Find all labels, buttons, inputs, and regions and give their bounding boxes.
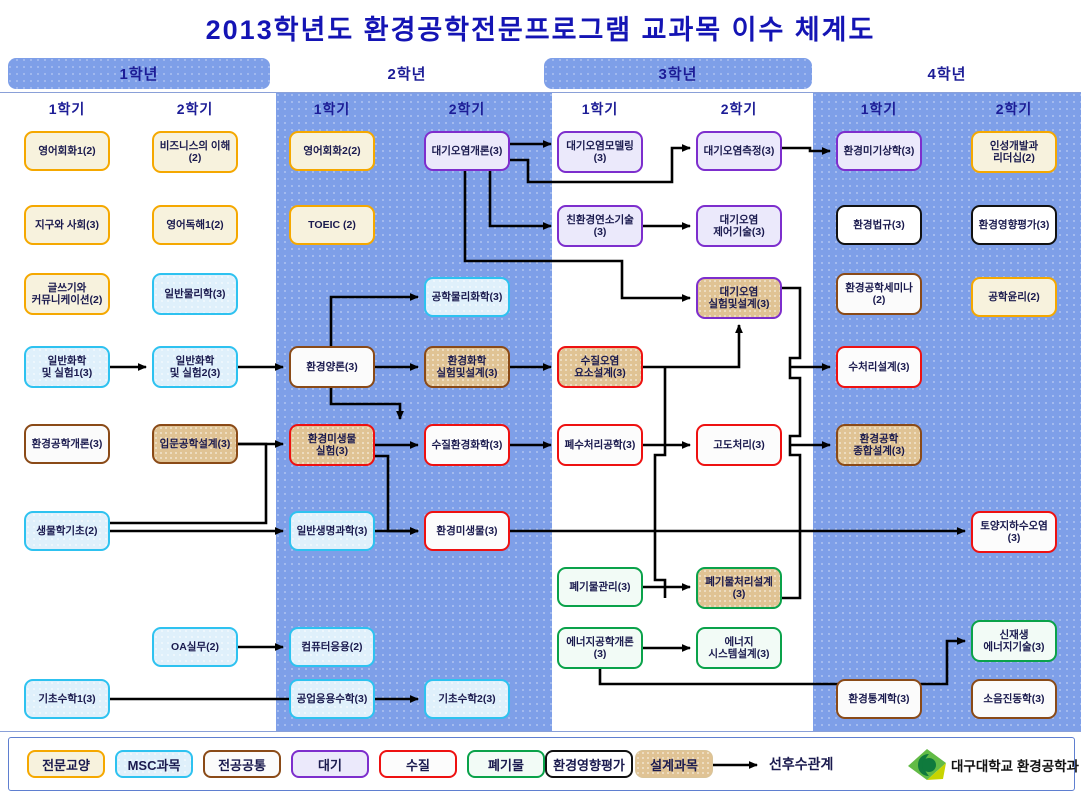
legend-item: 환경영향평가 bbox=[545, 750, 633, 778]
semester-text: 1학기 bbox=[582, 101, 619, 117]
legend: 선후수관계 대구대학교 환경공학과 전문교양MSC과목전공공통대기수질폐기물환경… bbox=[8, 737, 1075, 791]
year-header-4: 4학년 bbox=[818, 58, 1076, 89]
semester-label-3-2: 2학기 bbox=[696, 99, 782, 121]
course-box[interactable]: 일반물리학(3) bbox=[152, 273, 238, 315]
course-box[interactable]: 환경통계학(3) bbox=[836, 679, 922, 719]
semester-text: 1학기 bbox=[49, 101, 86, 117]
legend-item: 전문교양 bbox=[27, 750, 105, 778]
semester-label-3-1: 1학기 bbox=[557, 99, 643, 121]
legend-item: 대기 bbox=[291, 750, 369, 778]
semester-text: 2학기 bbox=[996, 101, 1033, 117]
semester-label-4-2: 2학기 bbox=[971, 99, 1057, 121]
course-box[interactable]: 환경양론(3) bbox=[289, 346, 375, 388]
course-box[interactable]: 공학물리화학(3) bbox=[424, 277, 510, 317]
course-box[interactable]: 수질환경화학(3) bbox=[424, 424, 510, 466]
university-logo-text: 대구대학교 환경공학과 bbox=[951, 755, 1079, 775]
header-divider-top bbox=[0, 92, 1081, 93]
university-logo-icon bbox=[907, 748, 947, 782]
year-header-label: 2학년 bbox=[388, 63, 427, 84]
course-box[interactable]: 환경공학개론(3) bbox=[24, 424, 110, 464]
course-box[interactable]: 대기오염 제어기술(3) bbox=[696, 205, 782, 247]
year-header-2: 2학년 bbox=[276, 58, 538, 89]
semester-label-2-2: 2학기 bbox=[424, 99, 510, 121]
course-box[interactable]: OA실무(2) bbox=[152, 627, 238, 667]
course-box[interactable]: 환경공학세미나 (2) bbox=[836, 273, 922, 315]
legend-item: 폐기물 bbox=[467, 750, 545, 778]
course-box[interactable]: 토양지하수오염 (3) bbox=[971, 511, 1057, 553]
course-box[interactable]: 에너지공학개론 (3) bbox=[557, 627, 643, 669]
course-box[interactable]: 환경법규(3) bbox=[836, 205, 922, 245]
course-box[interactable]: 영어회화1(2) bbox=[24, 131, 110, 171]
diagram-canvas: 2013학년도 환경공학전문프로그램 교과목 이수 체계도 1학년 2학년 3학… bbox=[0, 0, 1081, 794]
semester-text: 1학기 bbox=[314, 101, 351, 117]
legend-item: 수질 bbox=[379, 750, 457, 778]
course-box[interactable]: 수처리설계(3) bbox=[836, 346, 922, 388]
course-box[interactable]: 지구와 사회(3) bbox=[24, 205, 110, 245]
course-box[interactable]: 환경미기상학(3) bbox=[836, 131, 922, 171]
semester-label-2-1: 1학기 bbox=[289, 99, 375, 121]
legend-item: MSC과목 bbox=[115, 750, 193, 778]
semester-text: 2학기 bbox=[721, 101, 758, 117]
course-box[interactable]: 환경공학 종합설계(3) bbox=[836, 424, 922, 466]
course-box[interactable]: 공업응용수학(3) bbox=[289, 679, 375, 719]
course-box[interactable]: 대기오염모델링 (3) bbox=[557, 131, 643, 173]
course-box[interactable]: 소음진동학(3) bbox=[971, 679, 1057, 719]
course-box[interactable]: 환경미생물 실험(3) bbox=[289, 424, 375, 466]
course-box[interactable]: 수질오염 요소설계(3) bbox=[557, 346, 643, 388]
course-box[interactable]: 글쓰기와 커뮤니케이션(2) bbox=[24, 273, 110, 315]
course-box[interactable]: 환경화학 실험및설계(3) bbox=[424, 346, 510, 388]
year-header-1: 1학년 bbox=[8, 58, 270, 89]
course-box[interactable]: 고도처리(3) bbox=[696, 424, 782, 466]
semester-label-1-1: 1학기 bbox=[24, 99, 110, 121]
course-box[interactable]: 폐기물처리설계 (3) bbox=[696, 567, 782, 609]
year-header-label: 4학년 bbox=[928, 63, 967, 84]
course-box[interactable]: 비즈니스의 이해 (2) bbox=[152, 131, 238, 173]
course-box[interactable]: 폐수처리공학(3) bbox=[557, 424, 643, 466]
course-box[interactable]: 인성개발과 리더십(2) bbox=[971, 131, 1057, 173]
page-title: 2013학년도 환경공학전문프로그램 교과목 이수 체계도 bbox=[0, 8, 1081, 47]
course-box[interactable]: TOEIC (2) bbox=[289, 205, 375, 245]
legend-item: 전공공통 bbox=[203, 750, 281, 778]
course-box[interactable]: 환경미생물(3) bbox=[424, 511, 510, 551]
semester-label-1-2: 2학기 bbox=[152, 99, 238, 121]
course-box[interactable]: 대기오염측정(3) bbox=[696, 131, 782, 171]
relation-label: 선후수관계 bbox=[769, 754, 833, 774]
course-box[interactable]: 공학윤리(2) bbox=[971, 277, 1057, 317]
course-box[interactable]: 친환경연소기술 (3) bbox=[557, 205, 643, 247]
course-box[interactable]: 대기오염개론(3) bbox=[424, 131, 510, 171]
semester-text: 1학기 bbox=[861, 101, 898, 117]
course-box[interactable]: 일반생명과학(3) bbox=[289, 511, 375, 551]
course-box[interactable]: 대기오염 실험및설계(3) bbox=[696, 277, 782, 319]
semester-label-4-1: 1학기 bbox=[836, 99, 922, 121]
course-box[interactable]: 환경영향평가(3) bbox=[971, 205, 1057, 245]
semester-text: 2학기 bbox=[449, 101, 486, 117]
course-box[interactable]: 폐기물관리(3) bbox=[557, 567, 643, 607]
semester-text: 2학기 bbox=[177, 101, 214, 117]
course-box[interactable]: 기초수학2(3) bbox=[424, 679, 510, 719]
course-box[interactable]: 영어독해1(2) bbox=[152, 205, 238, 245]
course-box[interactable]: 생물학기초(2) bbox=[24, 511, 110, 551]
year-header-3: 3학년 bbox=[544, 58, 812, 89]
course-box[interactable]: 일반화학 및 실험2(3) bbox=[152, 346, 238, 388]
course-box[interactable]: 컴퓨터응용(2) bbox=[289, 627, 375, 667]
year-header-label: 3학년 bbox=[659, 63, 698, 84]
year-header-label: 1학년 bbox=[120, 63, 159, 84]
header-divider-bottom bbox=[0, 731, 1081, 732]
course-box[interactable]: 에너지 시스템설계(3) bbox=[696, 627, 782, 669]
course-box[interactable]: 영어회화2(2) bbox=[289, 131, 375, 171]
course-box[interactable]: 기초수학1(3) bbox=[24, 679, 110, 719]
legend-item: 설계과목 bbox=[635, 750, 713, 778]
course-box[interactable]: 입문공학설계(3) bbox=[152, 424, 238, 464]
course-box[interactable]: 신재생 에너지기술(3) bbox=[971, 620, 1057, 662]
course-box[interactable]: 일반화학 및 실험1(3) bbox=[24, 346, 110, 388]
